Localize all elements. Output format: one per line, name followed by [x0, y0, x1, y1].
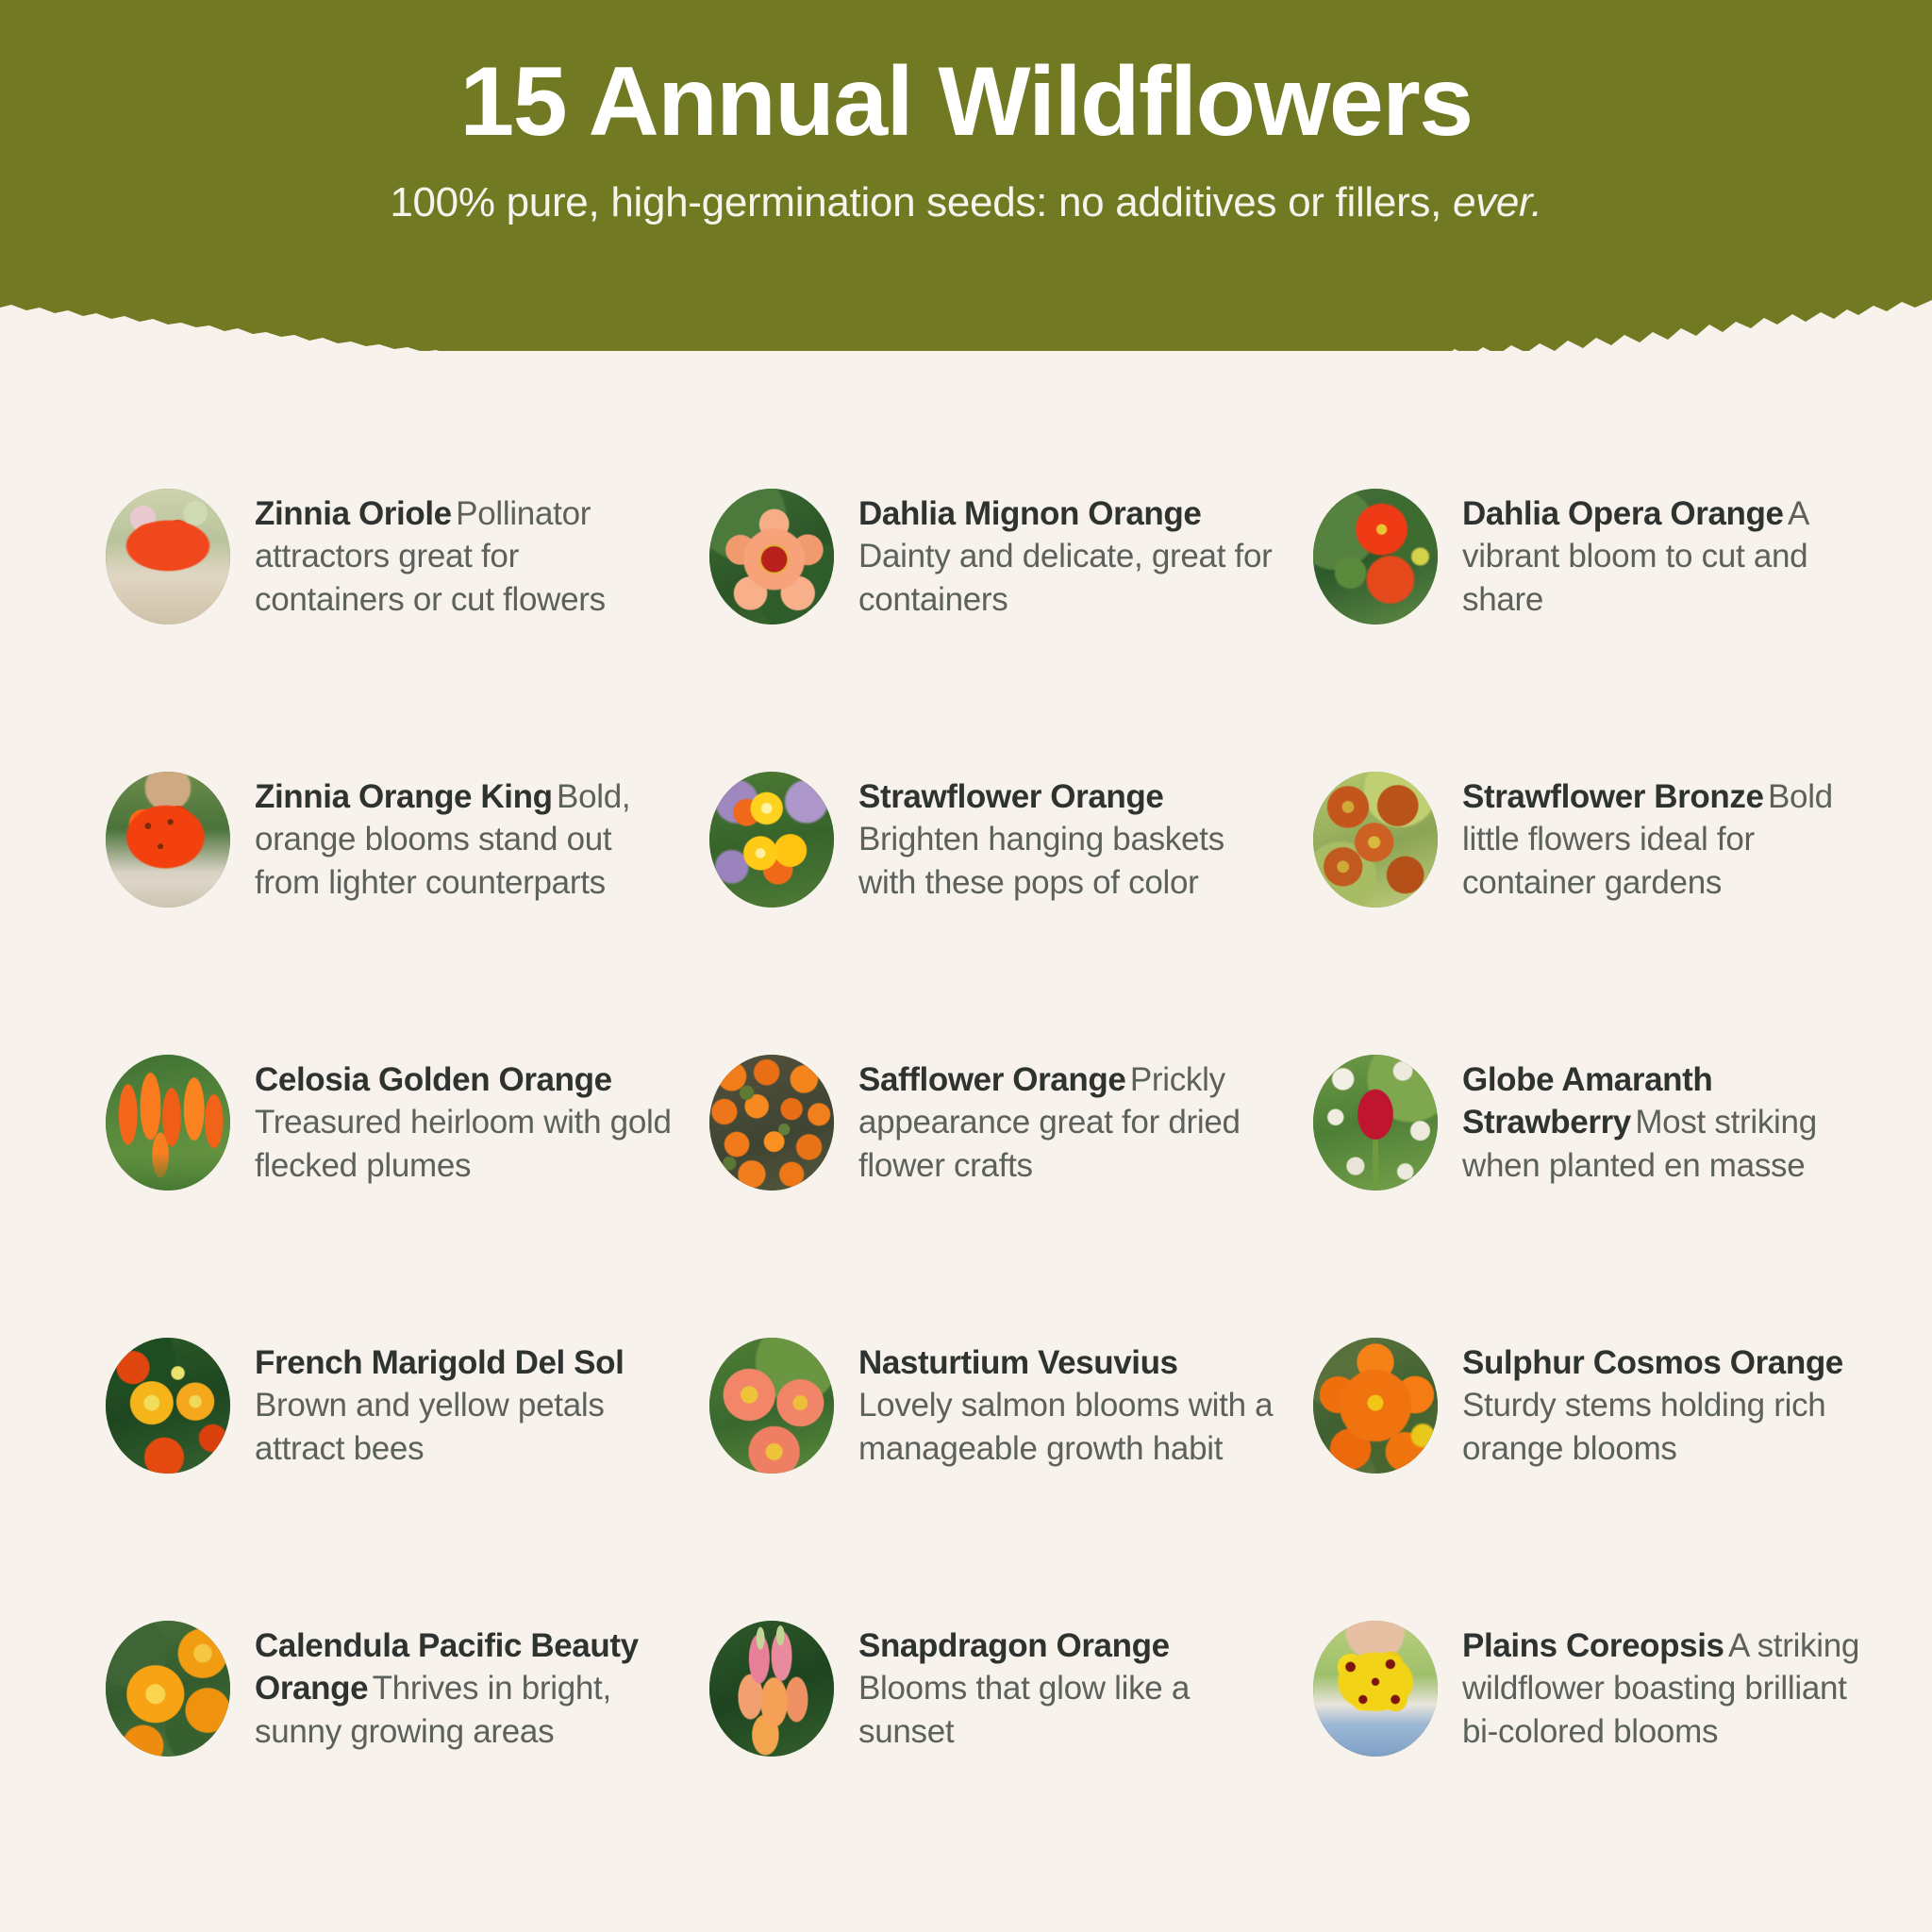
flower-card[interactable]: Dahlia Opera Orange A vibrant bloom to c…: [1313, 415, 1917, 698]
flower-thumbnail-wrap: [709, 1055, 834, 1191]
flower-name: Safflower Orange: [858, 1061, 1125, 1098]
flower-card[interactable]: Sulphur Cosmos Orange Sturdy stems holdi…: [1313, 1264, 1917, 1547]
flower-card[interactable]: French Marigold Del Sol Brown and yellow…: [106, 1264, 709, 1547]
flower-thumbnail-wrap: [1313, 772, 1438, 908]
page-title: 15 Annual Wildflowers: [459, 49, 1472, 155]
dahlia-mignon-orange-photo: [709, 489, 834, 625]
flower-thumbnail-wrap: [709, 489, 834, 625]
zinnia-oriole-photo: [106, 489, 230, 625]
header-band: 15 Annual Wildflowers 100% pure, high-ge…: [0, 0, 1932, 351]
dahlia-opera-orange-photo: [1313, 489, 1438, 625]
flower-card-text: Zinnia Orange King Bold, orange blooms s…: [255, 775, 672, 905]
flower-name: Celosia Golden Orange: [255, 1061, 612, 1098]
flower-card[interactable]: Safflower Orange Prickly appearance grea…: [709, 981, 1313, 1264]
french-marigold-del-sol-photo: [106, 1338, 230, 1474]
flower-name: Strawflower Bronze: [1462, 778, 1764, 815]
flower-card-text: Safflower Orange Prickly appearance grea…: [858, 1058, 1275, 1188]
flower-thumbnail-wrap: [1313, 1338, 1438, 1474]
flower-card[interactable]: Strawflower Orange Brighten hanging bask…: [709, 698, 1313, 981]
page-subtitle-plain: 100% pure, high-germination seeds: no ad…: [390, 179, 1453, 225]
flower-card-text: Dahlia Opera Orange A vibrant bloom to c…: [1462, 492, 1879, 622]
flower-card-text: French Marigold Del Sol Brown and yellow…: [255, 1341, 672, 1471]
flower-card-text: Sulphur Cosmos Orange Sturdy stems holdi…: [1462, 1341, 1879, 1471]
nasturtium-vesuvius-photo: [709, 1338, 834, 1474]
plains-coreopsis-photo: [1313, 1621, 1438, 1757]
flower-card[interactable]: Celosia Golden Orange Treasured heirloom…: [106, 981, 709, 1264]
flower-card-text: Celosia Golden Orange Treasured heirloom…: [255, 1058, 672, 1188]
flower-description: Lovely salmon blooms with a manageable g…: [858, 1387, 1273, 1467]
flower-name: Zinnia Orange King: [255, 778, 553, 815]
zinnia-orange-king-photo: [106, 772, 230, 908]
flower-name: Dahlia Mignon Orange: [858, 495, 1201, 532]
flower-card-text: Plains Coreopsis A striking wildflower b…: [1462, 1624, 1879, 1754]
flower-card[interactable]: Calendula Pacific Beauty Orange Thrives …: [106, 1547, 709, 1830]
calendula-pacific-beauty-orange-photo: [106, 1621, 230, 1757]
flower-card[interactable]: Nasturtium Vesuvius Lovely salmon blooms…: [709, 1264, 1313, 1547]
flower-name: Strawflower Orange: [858, 778, 1163, 815]
torn-paper-edge-divider: [0, 283, 1932, 387]
flower-card[interactable]: Plains Coreopsis A striking wildflower b…: [1313, 1547, 1917, 1830]
flower-thumbnail-wrap: [106, 1055, 230, 1191]
flower-name: Nasturtium Vesuvius: [858, 1344, 1178, 1381]
strawflower-bronze-photo: [1313, 772, 1438, 908]
flower-grid: Zinnia Oriole Pollinator attractors grea…: [0, 415, 1932, 1830]
flower-thumbnail-wrap: [709, 1621, 834, 1757]
page-subtitle: 100% pure, high-germination seeds: no ad…: [390, 179, 1541, 226]
flower-card-text: Snapdragon Orange Blooms that glow like …: [858, 1624, 1275, 1754]
flower-card[interactable]: Strawflower Bronze Bold little flowers i…: [1313, 698, 1917, 981]
snapdragon-orange-photo: [709, 1621, 834, 1757]
flower-thumbnail-wrap: [106, 489, 230, 625]
globe-amaranth-strawberry-photo: [1313, 1055, 1438, 1191]
flower-thumbnail-wrap: [106, 1621, 230, 1757]
flower-description: Dainty and delicate, great for container…: [858, 538, 1272, 618]
celosia-golden-orange-photo: [106, 1055, 230, 1191]
flower-thumbnail-wrap: [709, 772, 834, 908]
flower-card[interactable]: Globe Amaranth Strawberry Most striking …: [1313, 981, 1917, 1264]
flower-thumbnail-wrap: [1313, 1621, 1438, 1757]
flower-name: Sulphur Cosmos Orange: [1462, 1344, 1843, 1381]
header-content: 15 Annual Wildflowers 100% pure, high-ge…: [0, 0, 1932, 321]
flower-description: Brighten hanging baskets with these pops…: [858, 821, 1224, 901]
sulphur-cosmos-orange-photo: [1313, 1338, 1438, 1474]
page-subtitle-emphasis: ever.: [1453, 179, 1542, 225]
flower-card-text: Globe Amaranth Strawberry Most striking …: [1462, 1058, 1879, 1188]
flower-card-text: Dahlia Mignon Orange Dainty and delicate…: [858, 492, 1275, 622]
safflower-orange-photo: [709, 1055, 834, 1191]
flower-description: Brown and yellow petals attract bees: [255, 1387, 605, 1467]
flower-description: Sturdy stems holding rich orange blooms: [1462, 1387, 1825, 1467]
flower-name: Plains Coreopsis: [1462, 1627, 1724, 1664]
flower-card-text: Strawflower Bronze Bold little flowers i…: [1462, 775, 1879, 905]
flower-card[interactable]: Zinnia Orange King Bold, orange blooms s…: [106, 698, 709, 981]
flower-thumbnail-wrap: [1313, 489, 1438, 625]
flower-description: Treasured heirloom with gold flecked plu…: [255, 1104, 672, 1184]
flower-card[interactable]: Snapdragon Orange Blooms that glow like …: [709, 1547, 1313, 1830]
flower-name: Dahlia Opera Orange: [1462, 495, 1784, 532]
strawflower-orange-photo: [709, 772, 834, 908]
flower-card[interactable]: Zinnia Oriole Pollinator attractors grea…: [106, 415, 709, 698]
flower-name: French Marigold Del Sol: [255, 1344, 624, 1381]
flower-card-text: Nasturtium Vesuvius Lovely salmon blooms…: [858, 1341, 1275, 1471]
flower-thumbnail-wrap: [709, 1338, 834, 1474]
flower-thumbnail-wrap: [106, 1338, 230, 1474]
flower-card-text: Calendula Pacific Beauty Orange Thrives …: [255, 1624, 672, 1754]
flower-thumbnail-wrap: [106, 772, 230, 908]
flower-name: Snapdragon Orange: [858, 1627, 1170, 1664]
flower-card[interactable]: Dahlia Mignon Orange Dainty and delicate…: [709, 415, 1313, 698]
flower-card-text: Zinnia Oriole Pollinator attractors grea…: [255, 492, 672, 622]
flower-thumbnail-wrap: [1313, 1055, 1438, 1191]
flower-card-text: Strawflower Orange Brighten hanging bask…: [858, 775, 1275, 905]
flower-description: Blooms that glow like a sunset: [858, 1670, 1190, 1750]
flower-name: Zinnia Oriole: [255, 495, 452, 532]
